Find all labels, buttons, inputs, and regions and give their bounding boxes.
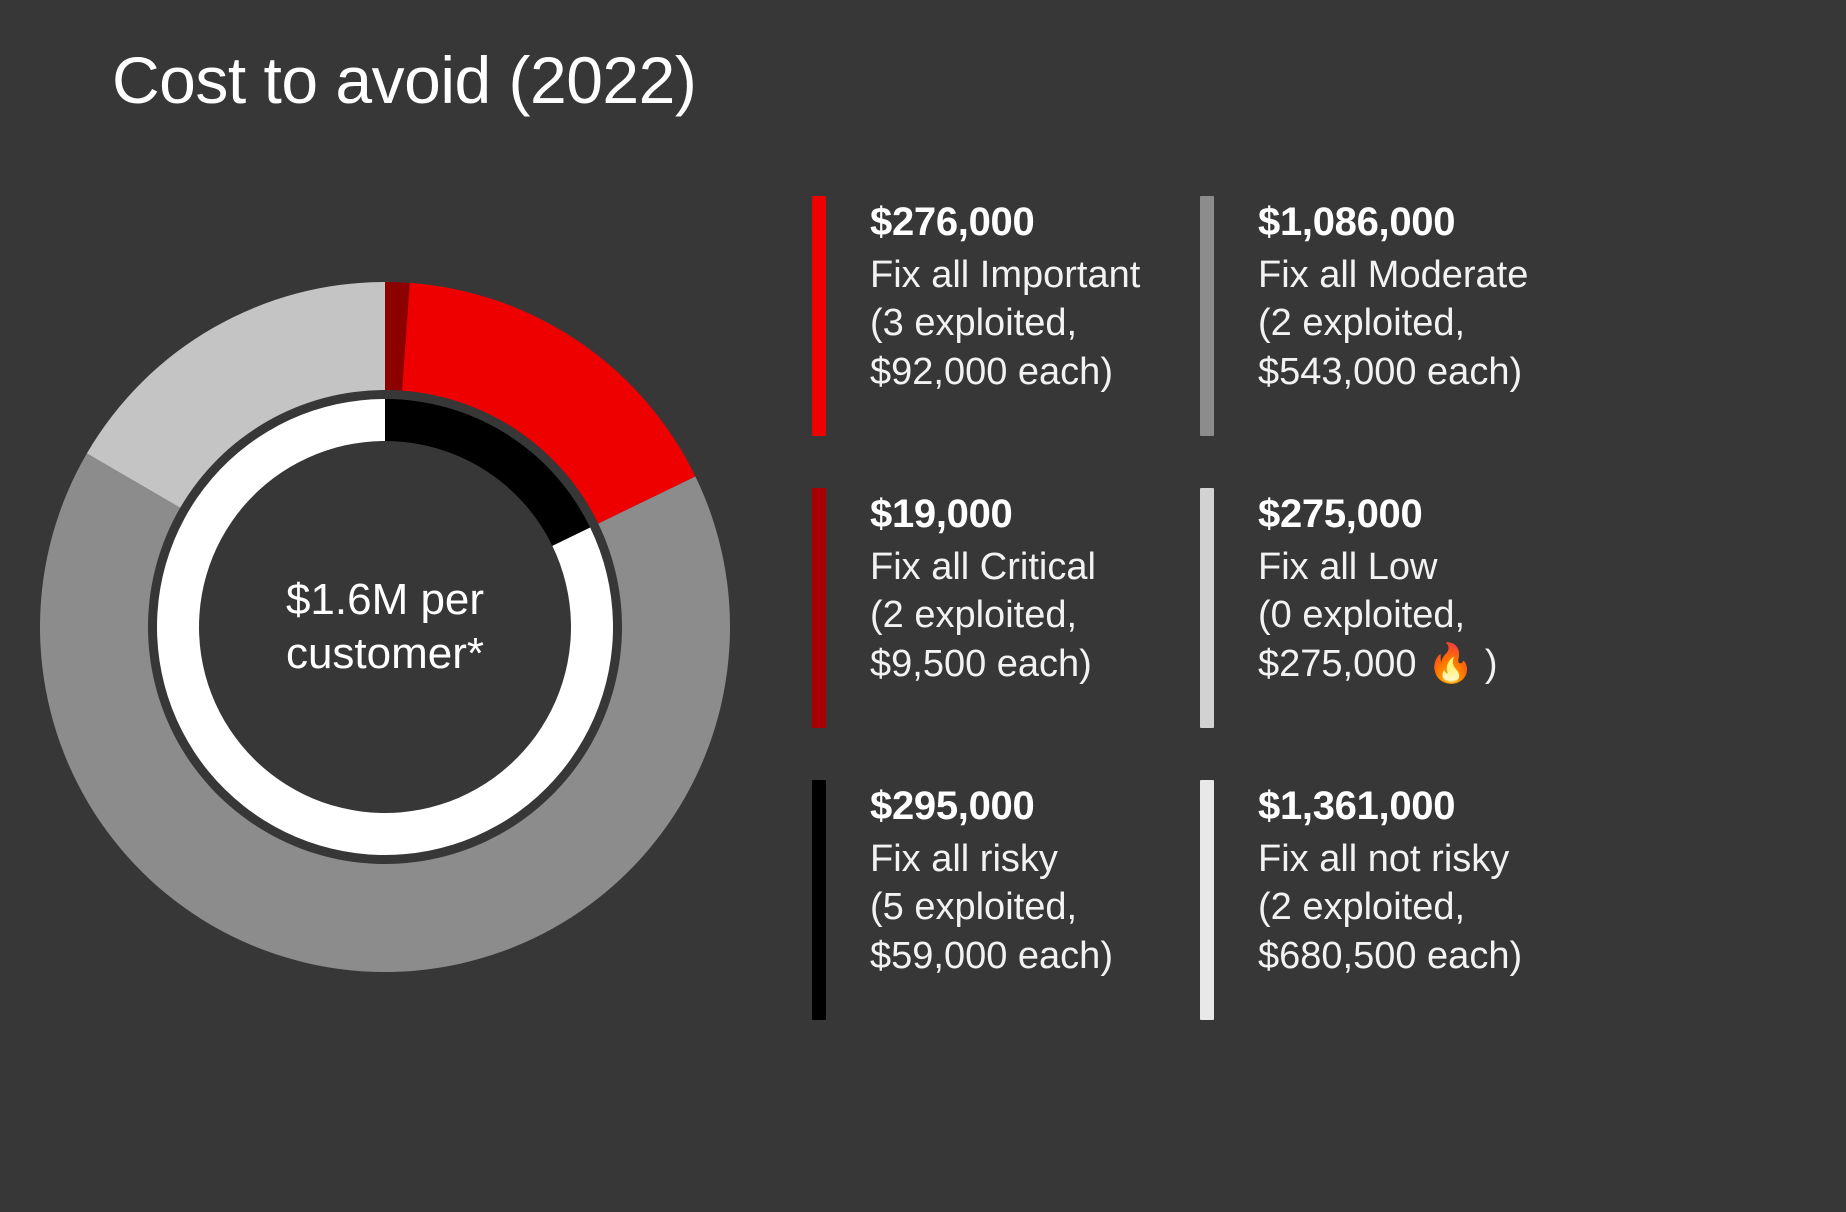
inner-ring-risk [157,399,613,855]
swatch-important [812,196,826,436]
legend-amount-risky: $295,000 [870,782,1113,831]
legend-desc-low: Fix all Low (0 exploited, $275,000 🔥 ) [1258,543,1498,689]
outer-ring-severity [40,282,730,972]
legend: $276,000 Fix all Important (3 exploited,… [812,196,1822,996]
swatch-critical [812,488,826,728]
legend-text-important: $276,000 Fix all Important (3 exploited,… [870,196,1140,397]
legend-amount-important: $276,000 [870,198,1140,247]
legend-desc-not-risky: Fix all not risky (2 exploited, $680,500… [1258,835,1522,981]
legend-desc-moderate: Fix all Moderate (2 exploited, $543,000 … [1258,251,1528,397]
legend-item-not-risky[interactable]: $1,361,000 Fix all not risky (2 exploite… [1200,780,1588,1072]
swatch-low [1200,488,1214,728]
infographic-canvas: Cost to avoid (2022) $1.6M per customer*… [0,0,1846,1212]
legend-desc-critical: Fix all Critical (2 exploited, $9,500 ea… [870,543,1096,689]
legend-item-low[interactable]: $275,000 Fix all Low (0 exploited, $275,… [1200,488,1588,780]
swatch-risky [812,780,826,1020]
legend-item-moderate[interactable]: $1,086,000 Fix all Moderate (2 exploited… [1200,196,1588,488]
swatch-not-risky [1200,780,1214,1020]
legend-desc-important: Fix all Important (3 exploited, $92,000 … [870,251,1140,397]
legend-desc-risky: Fix all risky (5 exploited, $59,000 each… [870,835,1113,981]
legend-text-risky: $295,000 Fix all risky (5 exploited, $59… [870,780,1113,981]
legend-text-low: $275,000 Fix all Low (0 exploited, $275,… [1258,488,1498,689]
donut-chart: $1.6M per customer* [40,282,730,972]
legend-amount-critical: $19,000 [870,490,1096,539]
swatch-moderate [1200,196,1214,436]
legend-amount-low: $275,000 [1258,490,1498,539]
legend-item-important[interactable]: $276,000 Fix all Important (3 exploited,… [812,196,1200,488]
legend-amount-not-risky: $1,361,000 [1258,782,1522,831]
legend-item-critical[interactable]: $19,000 Fix all Critical (2 exploited, $… [812,488,1200,780]
page-title: Cost to avoid (2022) [112,42,696,118]
donut-chart-svg [40,282,730,972]
legend-item-risky[interactable]: $295,000 Fix all risky (5 exploited, $59… [812,780,1200,1072]
legend-amount-moderate: $1,086,000 [1258,198,1528,247]
legend-text-critical: $19,000 Fix all Critical (2 exploited, $… [870,488,1096,689]
legend-text-not-risky: $1,361,000 Fix all not risky (2 exploite… [1258,780,1522,981]
slice-outer-fix-all-moderate[interactable] [40,453,730,972]
legend-text-moderate: $1,086,000 Fix all Moderate (2 exploited… [1258,196,1528,397]
